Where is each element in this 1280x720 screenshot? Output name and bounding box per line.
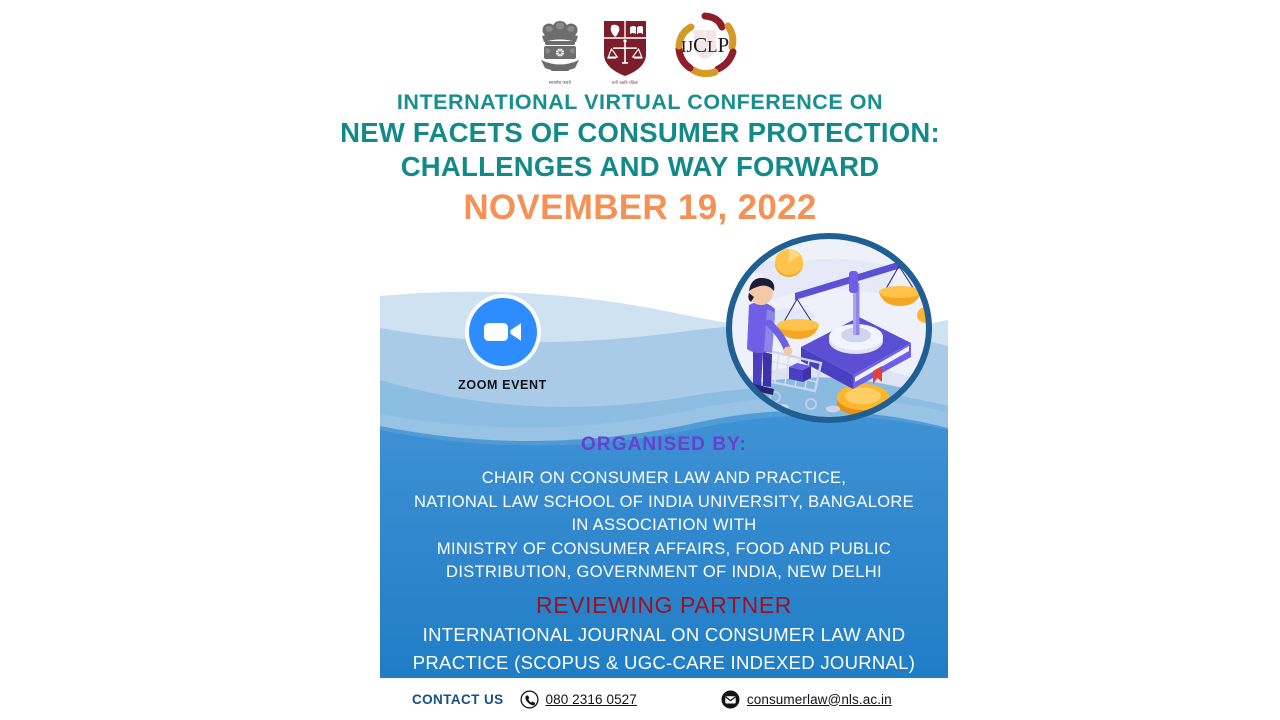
ijclp-swirl-icon: IJCLP [667,10,743,84]
organised-by-heading: ORGANISED BY: [380,433,948,457]
video-camera-icon [483,320,523,344]
svg-text:IJCLP: IJCLP [681,33,729,57]
zoom-icon-circle[interactable] [469,298,537,366]
conference-poster: सत्यमेव जयते [0,0,1280,720]
reviewing-line: INTERNATIONAL JOURNAL ON CONSUMER LAW AN… [380,621,948,649]
email-address[interactable]: consumerlaw@nls.ac.in [747,692,892,707]
nlsiu-shield-icon [602,19,648,79]
contact-bar: CONTACT US 080 2316 0527 consumerlaw@nls… [380,684,948,714]
zoom-event-badge[interactable]: ZOOM EVENT [435,298,570,392]
ijclp-logo: IJCLP [665,8,745,86]
reviewing-partner-lines: INTERNATIONAL JOURNAL ON CONSUMER LAW AN… [380,621,948,677]
state-emblem-of-india-logo: सत्यमेव जयते [535,8,585,86]
coin-bottom [837,384,889,416]
coin-top [775,249,803,277]
organised-by-lines: CHAIR ON CONSUMER LAW AND PRACTICE, NATI… [380,467,948,585]
panel-text-block: ORGANISED BY: CHAIR ON CONSUMER LAW AND … [380,433,948,677]
conference-subtitle: INTERNATIONAL VIRTUAL CONFERENCE ON [0,88,1280,116]
zoom-event-label: ZOOM EVENT [435,378,570,392]
organiser-line: DISTRIBUTION, GOVERNMENT OF INDIA, NEW D… [380,561,948,585]
organiser-line: NATIONAL LAW SCHOOL OF INDIA UNIVERSITY,… [380,491,948,515]
emblem-motto: सत्यमेव जयते [549,80,571,86]
reviewing-partner-heading: REVIEWING PARTNER [380,590,948,621]
conference-title-line-1: NEW FACETS OF CONSUMER PROTECTION: [0,116,1280,150]
contact-us-label: CONTACT US [412,692,504,707]
organiser-line: MINISTRY OF CONSUMER AFFAIRS, FOOD AND P… [380,538,948,562]
phone-icon [520,690,539,709]
conference-date: NOVEMBER 19, 2022 [0,186,1280,230]
phone-number[interactable]: 080 2316 0527 [546,692,637,707]
ashoka-lion-capital-icon [537,17,583,79]
contact-email[interactable]: consumerlaw@nls.ac.in [721,690,892,709]
organiser-line: CHAIR ON CONSUMER LAW AND PRACTICE, [380,467,948,491]
conference-title-line-2: CHALLENGES AND WAY FORWARD [0,150,1280,184]
scales-and-shopping-illustration [723,231,935,426]
crest-motto: धर्मो रक्षति रक्षितः [612,80,639,86]
consumer-law-illustration [723,231,935,426]
nlsiu-crest-logo: धर्मो रक्षति रक्षितः [599,8,651,86]
logo-row: सत्यमेव जयते [0,6,1280,88]
contact-phone[interactable]: 080 2316 0527 [520,690,637,709]
title-block: INTERNATIONAL VIRTUAL CONFERENCE ON NEW … [0,88,1280,230]
envelope-icon [721,690,740,709]
reviewing-line: PRACTICE (SCOPUS & UGC-CARE INDEXED JOUR… [380,649,948,677]
organiser-line: IN ASSOCIATION WITH [380,514,948,538]
